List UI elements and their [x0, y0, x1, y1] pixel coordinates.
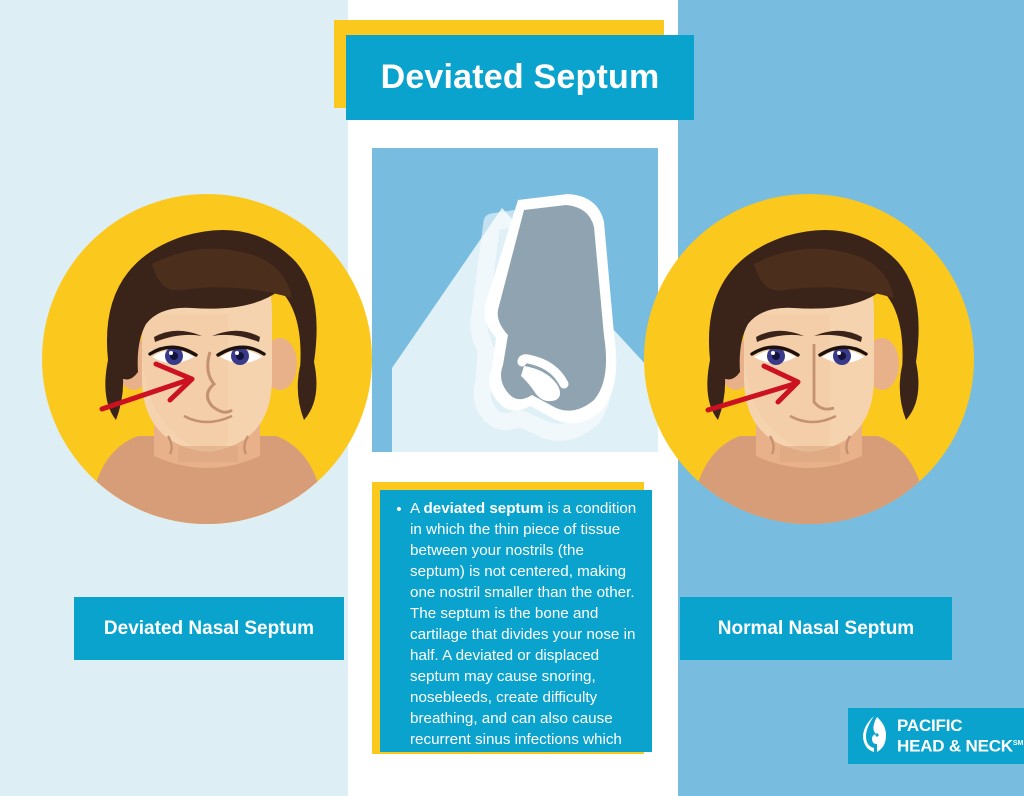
page-title: Deviated Septum [381, 58, 660, 97]
caption-left-label: Deviated Nasal Septum [104, 616, 314, 641]
pacific-head-and-neck-logo[interactable]: PACIFIC HEAD & NECKSM [848, 708, 1024, 764]
normal-septum-illustration [644, 194, 974, 524]
logo-line-1: PACIFIC [897, 716, 962, 735]
infographic-canvas: Deviated Septum [0, 0, 1024, 796]
logo-line-2: HEAD & NECK [897, 736, 1013, 755]
logo-wordmark: PACIFIC HEAD & NECKSM [897, 717, 1023, 756]
nose-diagram-card [372, 148, 658, 452]
bullet-icon: • [388, 498, 410, 744]
header-banner: Deviated Septum [346, 35, 694, 120]
logo-trademark: SM [1013, 740, 1024, 747]
description-text: A deviated septum is a condition in whic… [410, 498, 642, 744]
description-text-part2: is a condition in which the thin piece o… [410, 500, 636, 790]
deviated-septum-illustration [42, 194, 372, 524]
description-card: • A deviated septum is a condition in wh… [380, 490, 652, 752]
face-profile-logo-icon [862, 714, 888, 759]
description-text-part1: A [410, 500, 424, 517]
caption-normal-nasal-septum: Normal Nasal Septum [680, 597, 952, 660]
caption-deviated-nasal-septum: Deviated Nasal Septum [74, 597, 344, 660]
caption-right-label: Normal Nasal Septum [718, 616, 914, 641]
nose-cross-section-icon [372, 148, 658, 452]
description-text-bold: deviated septum [424, 500, 544, 517]
